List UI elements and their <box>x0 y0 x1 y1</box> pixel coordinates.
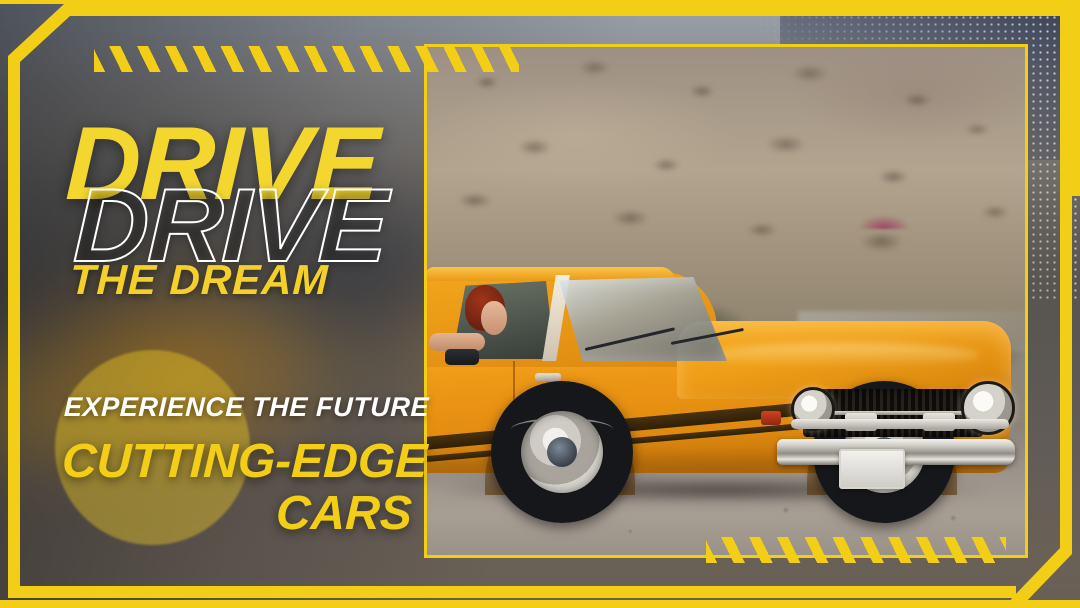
driver-face <box>481 301 507 335</box>
rear-wheel <box>491 381 633 523</box>
side-mirror <box>445 349 479 365</box>
subcopy-line-2: CARS <box>0 486 413 541</box>
headline-subtitle: THE DREAM <box>69 256 329 304</box>
hero-photo-card <box>424 44 1028 558</box>
classic-car <box>427 187 1025 517</box>
bumper-upper-trim <box>791 419 1009 429</box>
poster-canvas: DRIVE DRIVE THE DREAM EXPERIENCE THE FUT… <box>0 0 1080 608</box>
side-marker-light <box>761 411 781 425</box>
hero-photo-image <box>427 47 1025 555</box>
subcopy-line-1: CUTTING-EDGE <box>61 434 428 489</box>
door-handle <box>535 373 561 381</box>
rear-rim <box>521 411 603 493</box>
hood-highlight <box>709 343 979 367</box>
kicker-text: EXPERIENCE THE FUTURE <box>63 392 429 423</box>
license-plate <box>839 449 905 489</box>
